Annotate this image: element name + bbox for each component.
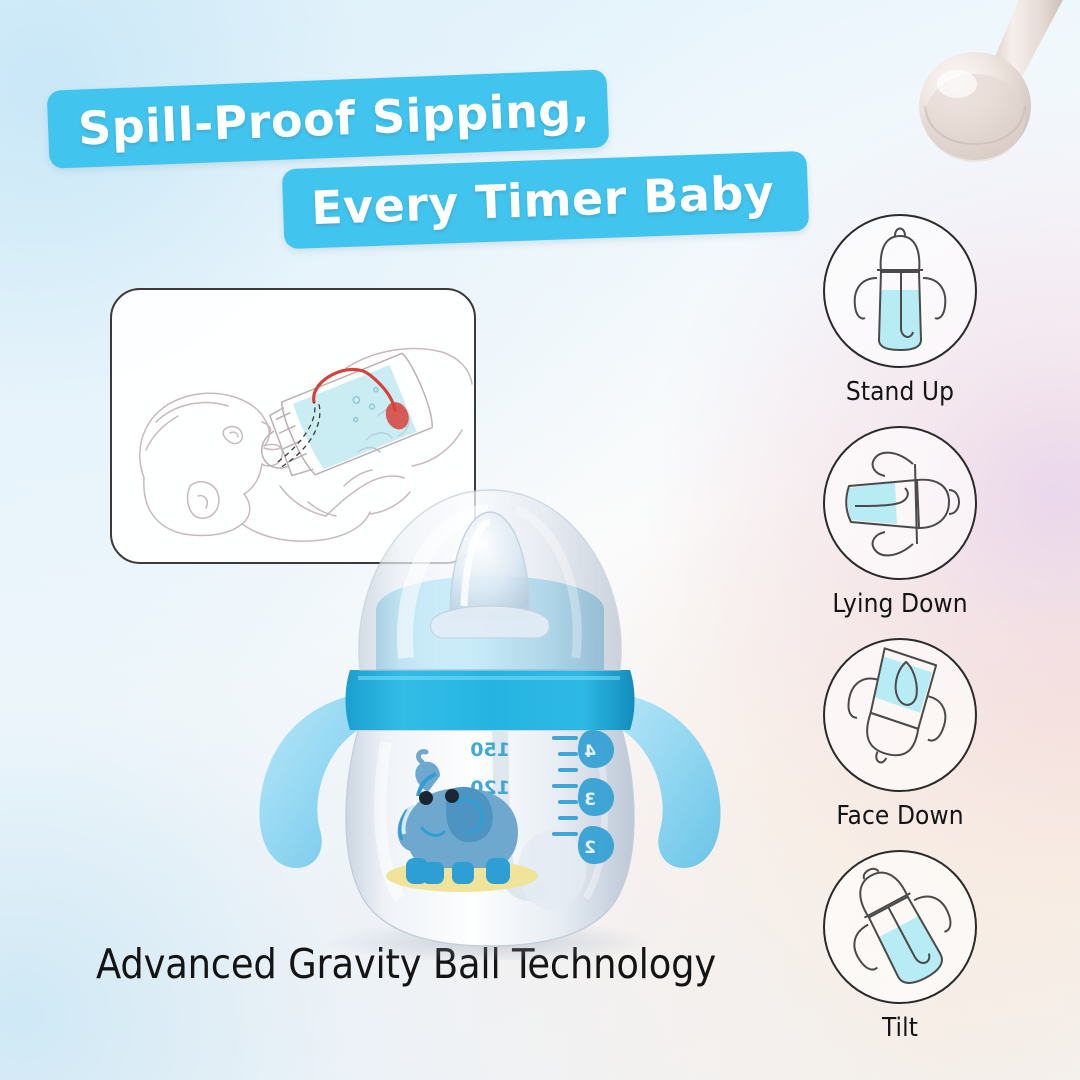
headline-line2-text: Every Timer Baby xyxy=(310,165,775,235)
feature-lying-down: Lying Down xyxy=(800,426,1000,619)
feature-label: Tilt xyxy=(800,1013,1000,1043)
feature-label: Stand Up xyxy=(800,377,1000,407)
svg-text:4: 4 xyxy=(584,742,596,762)
svg-text:150: 150 xyxy=(470,739,510,761)
headline-badge-line1: Spill-Proof Sipping, xyxy=(47,69,610,168)
feature-tilt: Tilt xyxy=(800,850,1000,1043)
headline-badge-line2: Every Timer Baby xyxy=(282,151,809,249)
bottle-tilted-icon xyxy=(823,850,977,1004)
gravity-ball-product xyxy=(905,0,1080,173)
feature-stand-up: Stand Up xyxy=(800,214,1000,407)
headline-line1-text: Spill-Proof Sipping, xyxy=(77,82,590,156)
bottle-upright-icon xyxy=(823,214,977,368)
svg-text:2: 2 xyxy=(584,838,596,858)
teat-base-flange xyxy=(430,606,549,638)
bottle-facedown-icon xyxy=(823,638,977,792)
feature-label: Lying Down xyxy=(800,589,1000,619)
feature-label: Face Down xyxy=(800,801,1000,831)
bottle-horizontal-icon xyxy=(823,426,977,580)
product-bottle: 150 120 4 3 2 xyxy=(200,430,760,960)
marketing-image: Spill-Proof Sipping, Every Timer Baby xyxy=(0,0,1080,1080)
svg-text:3: 3 xyxy=(584,790,596,810)
feature-face-down: Face Down xyxy=(800,638,1000,831)
